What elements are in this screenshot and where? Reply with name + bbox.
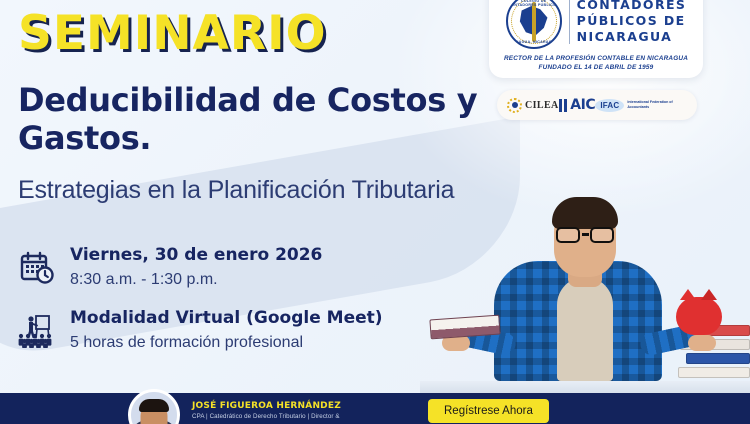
organization-logo: COLEGIO DE CONTADORES PÚBLICOS MANAGUA, … bbox=[506, 0, 687, 49]
training-presenter-icon bbox=[14, 309, 60, 353]
detail-date-head: Viernes, 30 de enero 2026 bbox=[70, 244, 322, 266]
hero-piggy-bank bbox=[676, 297, 722, 335]
crest-caduceus bbox=[532, 2, 536, 42]
crest-top-text: COLEGIO DE CONTADORES PÚBLICOS bbox=[508, 0, 560, 7]
organization-name-line3: NICARAGUA bbox=[577, 29, 687, 45]
accreditation-logos: CILEA AIC IFAC International Federation … bbox=[497, 90, 697, 120]
speaker-name: JOSÉ FIGUEROA HERNÁNDEZ bbox=[192, 401, 407, 411]
detail-modality-head: Modalidad Virtual (Google Meet) bbox=[70, 307, 383, 329]
organization-name-line2: PÚBLICOS DE bbox=[577, 13, 687, 29]
crest-icon: COLEGIO DE CONTADORES PÚBLICOS MANAGUA, … bbox=[506, 0, 562, 49]
logo-divider bbox=[569, 0, 570, 44]
aic-bars-icon bbox=[559, 99, 568, 112]
event-details: Viernes, 30 de enero 2026 8:30 a.m. - 1:… bbox=[14, 244, 414, 371]
ifac-sublabel: International Federation of Accountants bbox=[627, 100, 687, 111]
cilea-mark-icon bbox=[507, 98, 522, 113]
calendar-clock-icon bbox=[14, 246, 60, 290]
seminar-banner: SEMINARIO Deducibilidad de Costos y Gast… bbox=[0, 0, 750, 424]
hero-photo bbox=[420, 170, 750, 395]
organization-tagline: RECTOR DE LA PROFESIÓN CONTABLE EN NICAR… bbox=[504, 54, 688, 73]
ifac-logo: IFAC International Federation of Account… bbox=[595, 99, 687, 112]
organization-name: CONTADORES PÚBLICOS DE NICARAGUA bbox=[577, 0, 687, 45]
speaker-role: CPA | Catedrático de Derecho Tributario … bbox=[192, 413, 407, 420]
detail-row-modality: Modalidad Virtual (Google Meet) 5 horas … bbox=[14, 307, 414, 354]
register-button[interactable]: Regístrese Ahora bbox=[428, 399, 549, 423]
detail-text-date: Viernes, 30 de enero 2026 8:30 a.m. - 1:… bbox=[70, 244, 322, 291]
detail-text-modality: Modalidad Virtual (Google Meet) 5 horas … bbox=[70, 307, 383, 354]
page-title: Deducibilidad de Costos y Gastos. bbox=[18, 82, 488, 158]
organization-name-line1: CONTADORES bbox=[577, 0, 687, 13]
hero-right-hand bbox=[688, 335, 716, 351]
detail-modality-sub: 5 horas de formación profesional bbox=[70, 331, 383, 354]
organization-tagline-line2: FUNDADO EL 14 DE ABRIL DE 1959 bbox=[504, 63, 688, 73]
ifac-badge-icon: IFAC bbox=[595, 99, 624, 112]
avatar-hair bbox=[139, 399, 169, 412]
detail-date-sub: 8:30 a.m. - 1:30 p.m. bbox=[70, 268, 322, 291]
detail-row-date: Viernes, 30 de enero 2026 8:30 a.m. - 1:… bbox=[14, 244, 414, 291]
organization-tagline-line1: RECTOR DE LA PROFESIÓN CONTABLE EN NICAR… bbox=[504, 54, 688, 64]
speaker-info: JOSÉ FIGUEROA HERNÁNDEZ CPA | Catedrátic… bbox=[192, 401, 407, 420]
aic-label: AIC bbox=[570, 97, 595, 113]
hero-hair bbox=[552, 197, 618, 229]
cilea-logo: CILEA bbox=[507, 98, 559, 113]
glasses-icon bbox=[556, 226, 614, 243]
event-kicker: SEMINARIO bbox=[18, 10, 327, 57]
cilea-label: CILEA bbox=[525, 100, 559, 111]
aic-logo: AIC bbox=[559, 97, 596, 113]
organization-logo-card: COLEGIO DE CONTADORES PÚBLICOS MANAGUA, … bbox=[489, 0, 703, 78]
crest-bottom-text: MANAGUA, NICARAGUA bbox=[508, 40, 560, 44]
hero-undershirt bbox=[557, 277, 613, 381]
